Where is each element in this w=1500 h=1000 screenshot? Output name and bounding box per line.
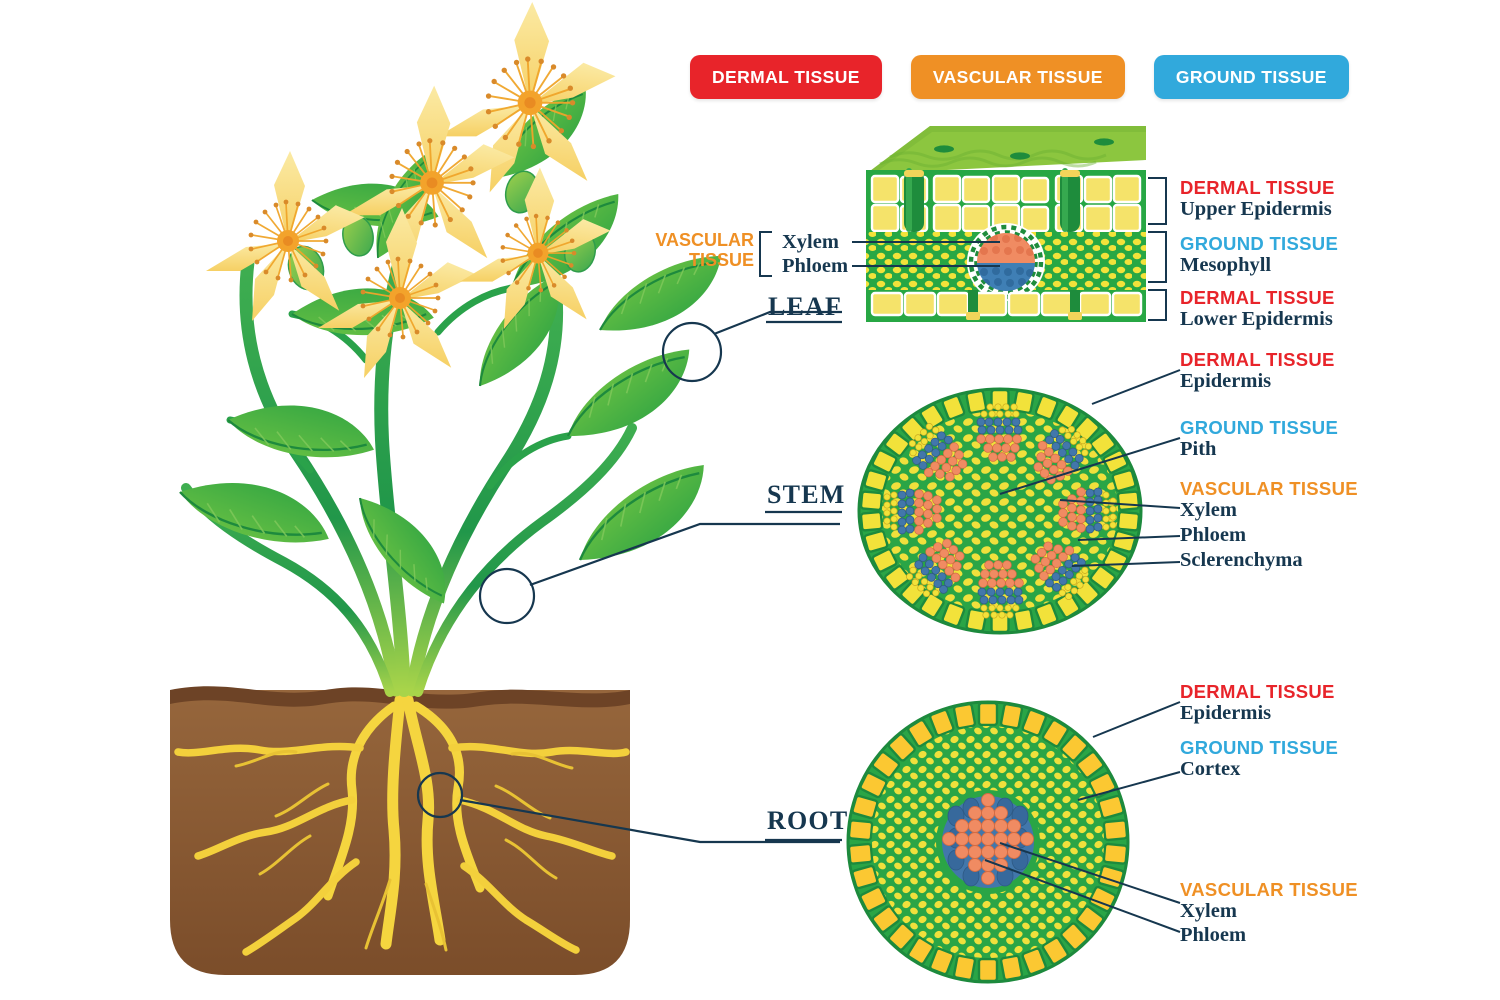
stem-epidermis-name: Epidermis xyxy=(1180,371,1335,393)
lower-epidermis-bracket xyxy=(1148,290,1166,320)
root-vascular-category: VASCULAR TISSUE xyxy=(1180,880,1358,900)
leaf-lower-epidermis-category: DERMAL TISSUE xyxy=(1180,288,1335,308)
stem-cross-section-diagram xyxy=(855,385,1145,637)
epidermis-cell xyxy=(966,390,986,413)
epidermis-cell xyxy=(1001,704,1023,729)
epidermis-cell xyxy=(849,820,873,840)
root-label-cortex: GROUND TISSUE Cortex xyxy=(1180,738,1338,780)
epidermis-cell xyxy=(864,530,888,552)
diagram-canvas: DERMAL TISSUE VASCULAR TISSUE GROUND TIS… xyxy=(0,0,1500,1000)
leaf-mesophyll-category: GROUND TISSUE xyxy=(1180,234,1338,254)
stem-sclerenchyma-name: Sclerenchyma xyxy=(1180,549,1303,572)
epidermis-cell xyxy=(979,703,997,725)
epidermis-cell xyxy=(1104,844,1128,864)
stem-vascular-category: VASCULAR TISSUE xyxy=(1180,479,1358,499)
stem-epidermis-category: DERMAL TISSUE xyxy=(1180,350,1335,370)
leaf-vascular-category: VASCULAR TISSUE xyxy=(648,230,754,270)
epidermis-cell xyxy=(861,491,882,510)
epidermis-cell xyxy=(966,609,986,632)
root-xylem-name: Xylem xyxy=(1180,901,1358,923)
stem-pith-category: GROUND TISSUE xyxy=(1180,418,1338,438)
root-label-epidermis: DERMAL TISSUE Epidermis xyxy=(1180,682,1335,724)
root-cortex-category: GROUND TISSUE xyxy=(1180,738,1338,758)
root-cortex-name: Cortex xyxy=(1180,759,1338,781)
mesophyll-bracket xyxy=(1148,232,1166,282)
epidermis-cell xyxy=(954,955,976,980)
leaf-label-upper-epidermis: DERMAL TISSUE Upper Epidermis xyxy=(1180,178,1335,220)
epidermis-cell xyxy=(1014,390,1034,413)
leaf-lower-epidermis-name: Lower Epidermis xyxy=(1180,309,1335,331)
leaf-xylem-label: Xylem xyxy=(782,231,839,254)
leaf-phloem-label: Phloem xyxy=(782,255,848,278)
stem-label-pith: GROUND TISSUE Pith xyxy=(1180,418,1338,460)
legend-badge-dermal[interactable]: DERMAL TISSUE xyxy=(690,55,882,99)
leaf-upper-epidermis-category: DERMAL TISSUE xyxy=(1180,178,1335,198)
stem-label-xylem: VASCULAR TISSUE Xylem xyxy=(1180,479,1358,521)
leaf-upper-epidermis-name: Upper Epidermis xyxy=(1180,199,1335,221)
epidermis-cell xyxy=(954,704,976,729)
lower-epidermis xyxy=(872,293,1141,315)
epidermis-cell xyxy=(849,844,873,864)
organ-label-leaf: LEAF xyxy=(768,292,842,322)
tissue-legend: DERMAL TISSUE VASCULAR TISSUE GROUND TIS… xyxy=(690,55,1349,99)
epidermis-cell xyxy=(1104,820,1128,840)
leaf-vascular-line2: TISSUE xyxy=(689,250,754,270)
stem-label-epidermis: DERMAL TISSUE Epidermis xyxy=(1180,350,1335,392)
epidermis-cell xyxy=(1118,512,1139,531)
leaf-vascular-line1: VASCULAR xyxy=(655,230,754,250)
leaf-label-mesophyll: GROUND TISSUE Mesophyll xyxy=(1180,234,1338,276)
epidermis-cell xyxy=(1112,530,1136,552)
stem-phloem-name: Phloem xyxy=(1180,524,1246,547)
stem-pith-name: Pith xyxy=(1180,439,1338,461)
organ-label-stem: STEM xyxy=(767,480,845,510)
leaf-cross-section-diagram xyxy=(860,112,1150,327)
stem-xylem-name: Xylem xyxy=(1180,500,1358,522)
root-label-xylem: VASCULAR TISSUE Xylem xyxy=(1180,880,1358,922)
upper-epidermis-bracket xyxy=(1148,178,1166,224)
root-epidermis-category: DERMAL TISSUE xyxy=(1180,682,1335,702)
epidermis-cell xyxy=(1112,470,1136,492)
epidermis-cell xyxy=(1001,955,1023,980)
plant-illustration xyxy=(60,0,740,1000)
root-phloem-name: Phloem xyxy=(1180,924,1246,947)
epidermis-cell xyxy=(864,470,888,492)
legend-badge-vascular[interactable]: VASCULAR TISSUE xyxy=(911,55,1125,99)
root-cross-section-diagram xyxy=(838,690,1138,990)
leaf-vascular-bracket xyxy=(760,232,772,276)
root-epidermis-name: Epidermis xyxy=(1180,703,1335,725)
epidermis-cell xyxy=(1014,609,1034,632)
epidermis-cell xyxy=(861,512,882,531)
organ-label-root: ROOT xyxy=(767,806,848,836)
leaf-mesophyll-name: Mesophyll xyxy=(1180,255,1338,277)
legend-badge-ground[interactable]: GROUND TISSUE xyxy=(1154,55,1349,99)
epidermis-cell xyxy=(979,959,997,981)
leaf-label-lower-epidermis: DERMAL TISSUE Lower Epidermis xyxy=(1180,288,1335,330)
epidermis-cell xyxy=(1118,491,1139,510)
